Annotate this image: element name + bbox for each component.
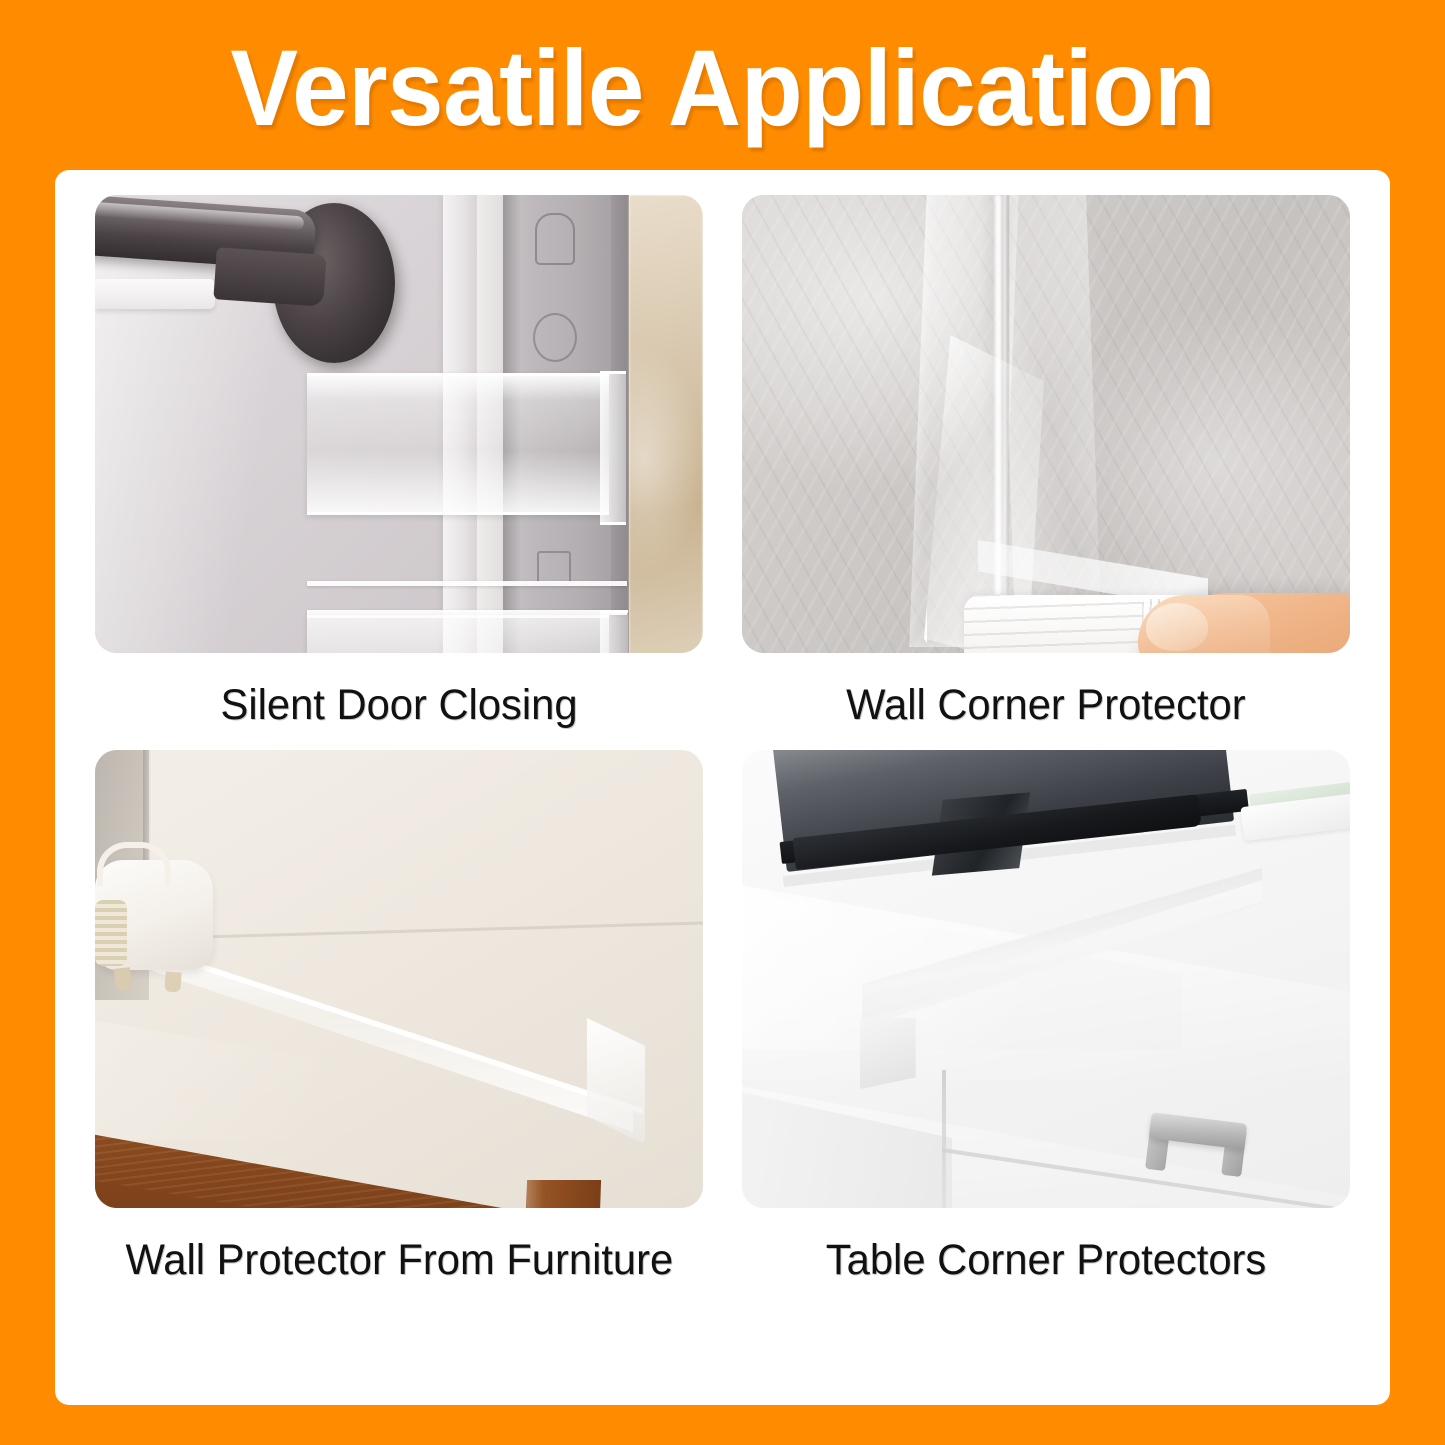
content-card: Silent Door Closing (55, 170, 1390, 1405)
panel-grid: Silent Door Closing (95, 195, 1350, 1385)
background-room-glow (629, 345, 703, 575)
photo-table-corner-protectors (742, 750, 1350, 1208)
panel-wall-corner-protector: Wall Corner Protector (742, 195, 1350, 730)
frame-notch-circle-icon (533, 313, 577, 362)
poster-root: Versatile Application (0, 0, 1445, 1445)
speaker-foot-right (164, 971, 181, 992)
corner-bumper-upper-wrap (600, 371, 626, 525)
table-leg-highlight (527, 1180, 543, 1208)
frame-notch-oval-icon (535, 213, 575, 265)
panel-wall-protector-from-furniture: Wall Protector From Furniture (95, 750, 703, 1285)
cabinet-corner-edge (942, 1070, 946, 1208)
white-speaker-handle (97, 842, 171, 886)
caption-wall-corner-protector: Wall Corner Protector (846, 681, 1245, 730)
speaker-foot-left (114, 967, 132, 991)
photo-wall-protector-from-furniture (95, 750, 703, 1208)
photo-wall-corner-protector (742, 195, 1350, 653)
clear-tape-highlight (995, 195, 1002, 595)
caption-silent-door-closing: Silent Door Closing (220, 681, 577, 730)
photo-silent-door-closing (95, 195, 703, 653)
thumbnail (1146, 603, 1208, 651)
panel-silent-door-closing: Silent Door Closing (95, 195, 703, 730)
wall-trim (95, 279, 215, 309)
white-speaker-grill (95, 900, 127, 966)
title-bar: Versatile Application (0, 0, 1445, 170)
caption-wall-protector-from-furniture: Wall Protector From Furniture (125, 1236, 673, 1285)
panel-table-corner-protectors: Table Corner Protectors (742, 750, 1350, 1285)
frame-notch-square-icon (537, 551, 571, 585)
corner-bumper-lower (307, 615, 609, 653)
caption-table-corner-protectors: Table Corner Protectors (826, 1236, 1266, 1285)
door-handle-neck (213, 247, 326, 307)
corner-bumper-upper (307, 373, 609, 515)
corner-bumper-line-top (307, 581, 627, 586)
corner-bumper-lower-wrap (600, 610, 628, 653)
page-title: Versatile Application (230, 34, 1215, 142)
